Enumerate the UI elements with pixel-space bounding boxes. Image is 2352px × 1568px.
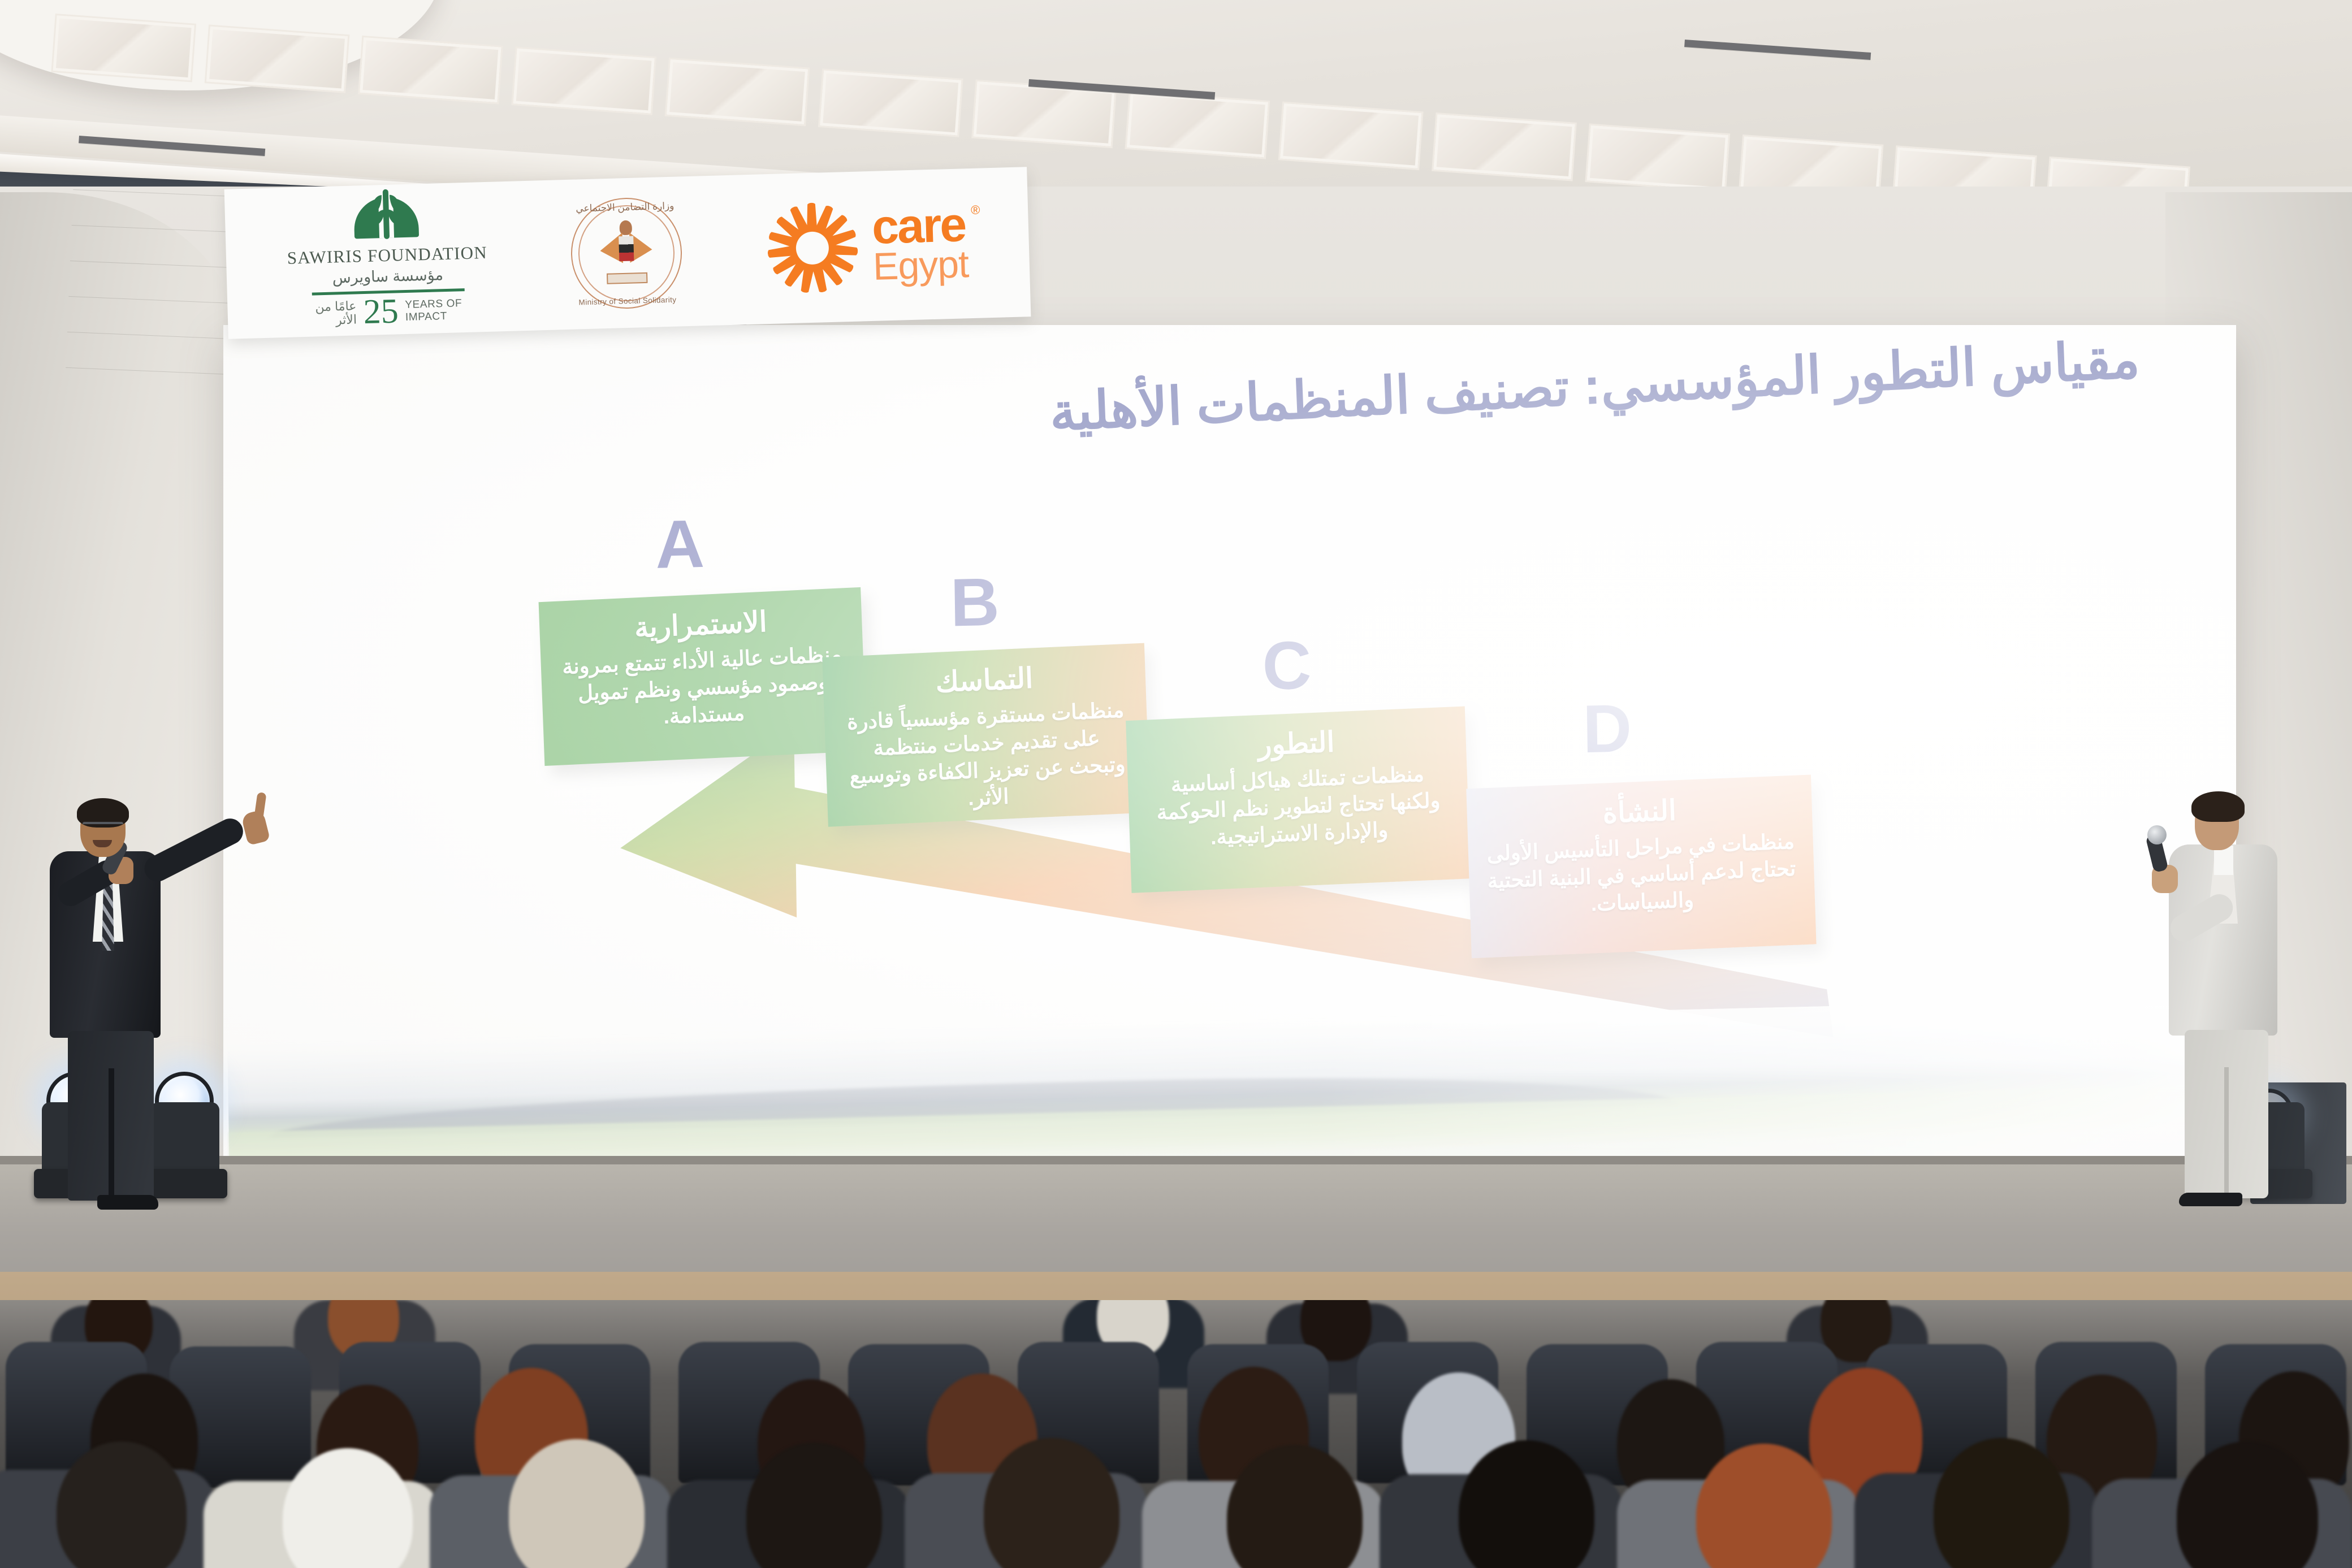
care-hands-starburst-icon — [764, 199, 862, 297]
sponsor-logo-bar: SAWIRIS FOUNDATION مؤسسة ساويرس عامًا من… — [224, 167, 1031, 339]
ceiling — [0, 0, 2352, 203]
ministry-of-social-solidarity-logo: وزارة التضامن الاجتماعي Ministry of Soci… — [569, 196, 683, 310]
sawiris-foundation-logo: SAWIRIS FOUNDATION مؤسسة ساويرس عامًا من… — [286, 190, 490, 329]
card-letter-b: B — [950, 568, 1000, 637]
card-b-body: منظمات مستقرة مؤسسياً قادرة على تقديم خد… — [841, 696, 1133, 818]
conference-photo: مقياس التطور المؤسسي: تصنيف المنظمات الأ… — [0, 0, 2352, 1568]
card-b-heading: التماسك — [840, 659, 1129, 703]
ministry-name-en: Ministry of Social Solidarity — [572, 295, 683, 306]
card-a-heading: الاستمرارية — [556, 603, 846, 647]
presenter-right — [2165, 797, 2312, 1215]
egypt-eagle-seal-icon: وزارة التضامن الاجتماعي Ministry of Soci… — [569, 196, 683, 310]
care-egypt-logo: care® Egypt — [764, 196, 969, 297]
card-letter-c: C — [1262, 631, 1312, 700]
card-letter-d: D — [1582, 694, 1632, 763]
sawiris-name-en: SAWIRIS FOUNDATION — [287, 242, 487, 268]
anniversary-en-line1: YEARS OF — [405, 297, 462, 311]
presenter-left — [45, 803, 283, 1215]
category-card-c[interactable]: التطور منظمات تمتلك هياكل أساسية ولكنها … — [1126, 706, 1471, 893]
ac-vent-slot-3 — [1684, 40, 1871, 60]
anniversary-en-line2: IMPACT — [405, 310, 462, 323]
category-card-d[interactable]: النشأة منظمات في مراحل التأسيس الأولى تح… — [1466, 774, 1816, 958]
presenter-left-glasses — [83, 822, 123, 830]
anniversary-number: 25 — [363, 297, 399, 327]
anniversary-ar-line1: عامًا من — [315, 300, 357, 314]
audience — [0, 1300, 2352, 1568]
card-c-heading: التطور — [1143, 722, 1449, 766]
card-d-body: منظمات في مراحل التأسيس الأولى تحتاج لدع… — [1485, 828, 1798, 922]
sawiris-name-ar: مؤسسة ساويرس — [332, 266, 443, 287]
card-letter-a: A — [655, 510, 704, 579]
category-card-a[interactable]: الاستمرارية منظمات عالية الأداء تتمتع بم… — [539, 587, 867, 766]
category-card-b[interactable]: التماسك منظمات مستقرة مؤسسياً قادرة على … — [822, 643, 1150, 827]
card-d-heading: النشأة — [1484, 790, 1795, 834]
projection-screen: مقياس التطور المؤسسي: تصنيف المنظمات الأ… — [223, 325, 2236, 1190]
sawiris-anniversary-badge: عامًا من الأثر 25 YEARS OF IMPACT — [315, 294, 462, 328]
slide-title: مقياس التطور المؤسسي: تصنيف المنظمات الأ… — [760, 326, 2141, 462]
registered-trademark-icon: ® — [971, 205, 979, 216]
card-c-body: منظمات تمتلك هياكل أساسية ولكنها تحتاج ل… — [1144, 760, 1452, 854]
sawiris-wheat-icon — [349, 192, 423, 241]
presenter-left-raised-arm — [140, 814, 248, 886]
anniversary-ar-line2: الأثر — [315, 313, 357, 327]
care-wordmark: care® — [871, 205, 966, 249]
card-a-body: منظمات عالية الأداء تتمتع بمرونة وصمود م… — [557, 640, 849, 735]
